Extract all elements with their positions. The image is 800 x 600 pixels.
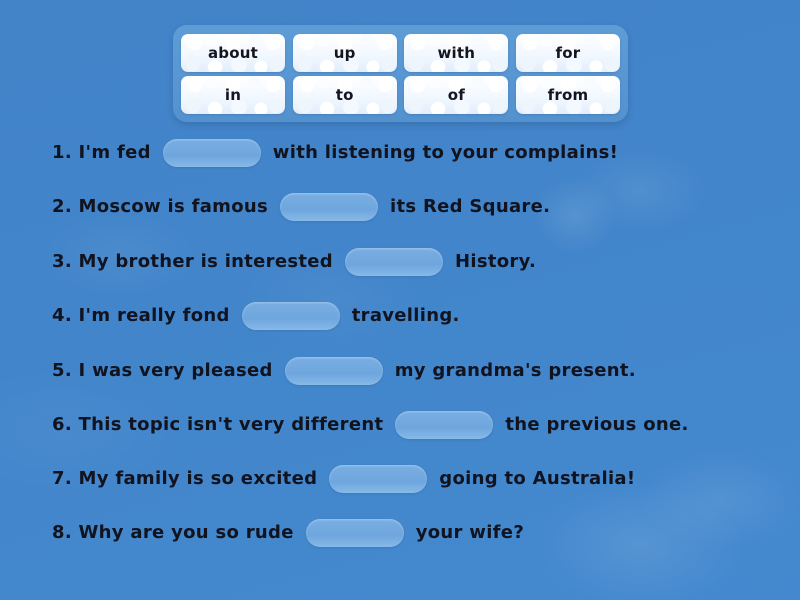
word-tile-label: of	[448, 88, 465, 103]
word-tile-label: in	[225, 88, 241, 103]
sentence-text-after: my grandma's present.	[395, 362, 636, 380]
word-tile-to[interactable]: to	[293, 76, 397, 114]
sentence-row-8: 8. Why are you so rude your wife?	[52, 518, 524, 548]
sentence-row-5: 5. I was very pleased my grandma's prese…	[52, 356, 636, 386]
drop-zone-7[interactable]	[329, 465, 427, 493]
word-tile-in[interactable]: in	[181, 76, 285, 114]
word-tile-about[interactable]: about	[181, 34, 285, 72]
word-tile-for[interactable]: for	[516, 34, 620, 72]
word-tile-label: up	[334, 46, 356, 61]
word-bank-row-2: in to of from	[181, 76, 620, 114]
word-bank-row-1: about up with for	[181, 34, 620, 72]
word-tile-up[interactable]: up	[293, 34, 397, 72]
sentence-text-after: your wife?	[416, 524, 524, 542]
sentence-text-after: going to Australia!	[439, 470, 635, 488]
sentence-row-2: 2. Moscow is famous its Red Square.	[52, 192, 550, 222]
sentence-text-after: travelling.	[352, 307, 460, 325]
word-tile-with[interactable]: with	[404, 34, 508, 72]
word-tile-label: from	[548, 88, 589, 103]
sentence-text-before: 1. I'm fed	[52, 144, 151, 162]
word-tile-label: for	[556, 46, 581, 61]
drop-zone-5[interactable]	[285, 357, 383, 385]
word-tile-label: to	[336, 88, 354, 103]
sentence-row-3: 3. My brother is interested History.	[52, 247, 536, 277]
sentence-text-before: 3. My brother is interested	[52, 253, 333, 271]
drop-zone-4[interactable]	[242, 302, 340, 330]
sentence-text-before: 2. Moscow is famous	[52, 198, 268, 216]
sentence-row-6: 6. This topic isn't very different the p…	[52, 410, 689, 440]
sentence-text-before: 8. Why are you so rude	[52, 524, 294, 542]
sentence-text-after: its Red Square.	[390, 198, 550, 216]
sentence-row-1: 1. I'm fed with listening to your compla…	[52, 138, 618, 168]
sentence-row-7: 7. My family is so excited going to Aust…	[52, 464, 635, 494]
sentence-row-4: 4. I'm really fond travelling.	[52, 301, 460, 331]
word-bank-panel: about up with for in to of from	[173, 25, 628, 122]
sentence-text-after: History.	[455, 253, 536, 271]
sentence-text-before: 6. This topic isn't very different	[52, 416, 383, 434]
drop-zone-3[interactable]	[345, 248, 443, 276]
word-tile-label: about	[208, 46, 258, 61]
drop-zone-2[interactable]	[280, 193, 378, 221]
sentence-text-before: 7. My family is so excited	[52, 470, 317, 488]
sentence-text-before: 5. I was very pleased	[52, 362, 273, 380]
sentence-text-after: with listening to your complains!	[273, 144, 618, 162]
sentence-text-after: the previous one.	[505, 416, 688, 434]
drop-zone-8[interactable]	[306, 519, 404, 547]
word-tile-of[interactable]: of	[404, 76, 508, 114]
word-tile-from[interactable]: from	[516, 76, 620, 114]
drop-zone-6[interactable]	[395, 411, 493, 439]
sentence-text-before: 4. I'm really fond	[52, 307, 230, 325]
word-tile-label: with	[437, 46, 475, 61]
drop-zone-1[interactable]	[163, 139, 261, 167]
